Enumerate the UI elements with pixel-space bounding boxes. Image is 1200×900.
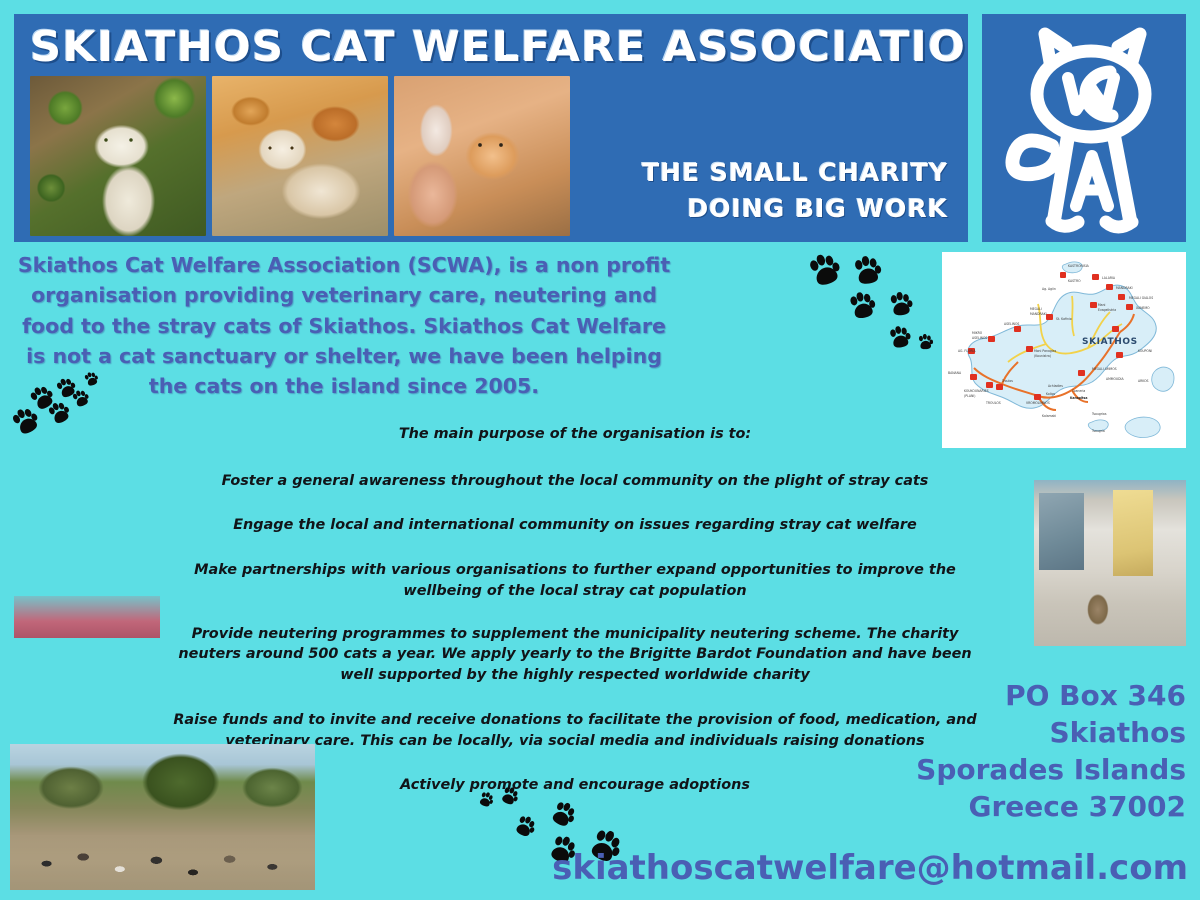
paw-print-icon <box>886 324 914 352</box>
paw-print-icon <box>916 333 934 351</box>
svg-text:Evagelistria: Evagelistria <box>1098 308 1116 312</box>
svg-text:KOUKOUNARIES: KOUKOUNARIES <box>964 389 989 393</box>
svg-text:LALARIA: LALARIA <box>1102 276 1116 280</box>
svg-text:Tzaneria: Tzaneria <box>1071 389 1085 393</box>
intro-paragraph: Skiathos Cat Welfare Association (SCWA),… <box>12 250 676 402</box>
header-photo-bottle-fed-kitten <box>394 76 570 236</box>
paw-print-icon <box>887 291 916 320</box>
svg-text:VROMOLIMNOS: VROMOLIMNOS <box>1026 401 1050 405</box>
photo-vet-team <box>14 453 160 638</box>
purpose-item: Make partnerships with various organisat… <box>170 560 980 601</box>
photo-cat-colony <box>10 744 315 890</box>
svg-text:MEGALI GIALOS: MEGALI GIALOS <box>1129 296 1153 300</box>
svg-text:St. Kafinio: St. Kafinio <box>1056 317 1072 321</box>
svg-text:Achladies: Achladies <box>1048 384 1063 388</box>
paw-print-icon <box>510 812 539 841</box>
svg-text:Tsougria: Tsougria <box>1091 429 1105 433</box>
header-banner: SKIATHOS CAT WELFARE ASSOCIATION THE SMA… <box>14 14 968 242</box>
svg-text:KOUPONI: KOUPONI <box>1138 349 1152 353</box>
svg-text:Moni Panagias: Moni Panagias <box>1034 349 1057 353</box>
svg-text:MEGALI: MEGALI <box>1030 307 1042 311</box>
svg-text:ARKOS: ARKOS <box>1138 379 1149 383</box>
contact-email-link[interactable]: skiathoscatwelfare@hotmail.com <box>552 848 1188 888</box>
header-tagline: THE SMALL CHARITY DOING BIG WORK <box>642 155 948 226</box>
paw-print-icon <box>497 784 522 809</box>
paw-print-icon <box>845 289 879 323</box>
header-photo-cat-in-tree <box>30 76 206 236</box>
svg-text:MANDRAKI: MANDRAKI <box>1116 286 1133 290</box>
purpose-item: Engage the local and international commu… <box>170 515 980 536</box>
paw-cluster-top-right <box>800 250 940 370</box>
header-photo-ginger-cat <box>212 76 388 236</box>
svg-text:AMMOUDIA: AMMOUDIA <box>1106 377 1124 381</box>
tagline-line-2: DOING BIG WORK <box>642 191 948 227</box>
svg-text:Troulos: Troulos <box>1001 379 1013 383</box>
paw-print-icon <box>850 254 885 289</box>
header-photo-strip <box>30 76 570 236</box>
address-line: Sporades Islands <box>916 752 1186 789</box>
svg-text:XANEMO: XANEMO <box>1136 306 1150 310</box>
svg-text:KASTRO: KASTRO <box>1068 279 1081 283</box>
purpose-item: Foster a general awareness throughout th… <box>170 471 980 492</box>
svg-text:ASELINOS: ASELINOS <box>972 336 987 340</box>
svg-text:BANANA: BANANA <box>948 371 962 375</box>
tagline-line-1: THE SMALL CHARITY <box>642 155 948 191</box>
svg-text:Ag. Agiin: Ag. Agiin <box>1042 287 1056 291</box>
scwa-logo <box>982 14 1186 242</box>
address-line: Greece 37002 <box>916 789 1186 826</box>
address-line: Skiathos <box>916 715 1186 752</box>
svg-text:TROULOS: TROULOS <box>985 401 1001 405</box>
photo-street-cat <box>1034 480 1186 646</box>
svg-text:Kanapitsa: Kanapitsa <box>1070 396 1087 400</box>
photo-cat-colony-image <box>10 744 315 890</box>
photo-vet-team-image <box>14 453 160 638</box>
svg-text:Kolios: Kolios <box>1046 392 1055 396</box>
page-title: SKIATHOS CAT WELFARE ASSOCIATION <box>30 22 968 71</box>
svg-text:Tsougrias: Tsougrias <box>1091 412 1107 416</box>
svg-text:MANDRAKI: MANDRAKI <box>1030 312 1047 316</box>
svg-text:MEGALI AMMOS: MEGALI AMMOS <box>1092 367 1117 371</box>
map-island-label: SKIATHOS <box>1082 337 1138 347</box>
paw-print-icon <box>545 797 580 832</box>
address-line: PO Box 346 <box>916 678 1186 715</box>
svg-text:KASTRONISIA: KASTRONISIA <box>1068 264 1090 268</box>
photo-street-cat-image <box>1034 480 1186 646</box>
postal-address: PO Box 346 Skiathos Sporades Islands Gre… <box>916 678 1186 826</box>
purpose-heading: The main purpose of the organisation is … <box>170 424 980 445</box>
svg-text:MIKRO: MIKRO <box>972 331 983 335</box>
paw-print-icon <box>82 370 101 389</box>
paw-cluster-left <box>8 372 108 450</box>
paw-print-icon <box>804 250 847 293</box>
paw-print-icon <box>476 790 497 811</box>
svg-text:Kalamaki: Kalamaki <box>1042 414 1056 418</box>
purpose-item: Provide neutering programmes to suppleme… <box>170 624 980 686</box>
svg-text:ASELINOS: ASELINOS <box>1004 322 1019 326</box>
svg-text:(PLANI): (PLANI) <box>964 394 975 398</box>
svg-text:Mani: Mani <box>1098 303 1106 307</box>
svg-text:(Kounistra): (Kounistra) <box>1034 354 1051 358</box>
skiathos-map: SKIATHOS KASTRONISIA KASTRO LALARIA MAND… <box>942 252 1186 448</box>
svg-text:AG. FLORIA: AG. FLORIA <box>958 349 976 353</box>
